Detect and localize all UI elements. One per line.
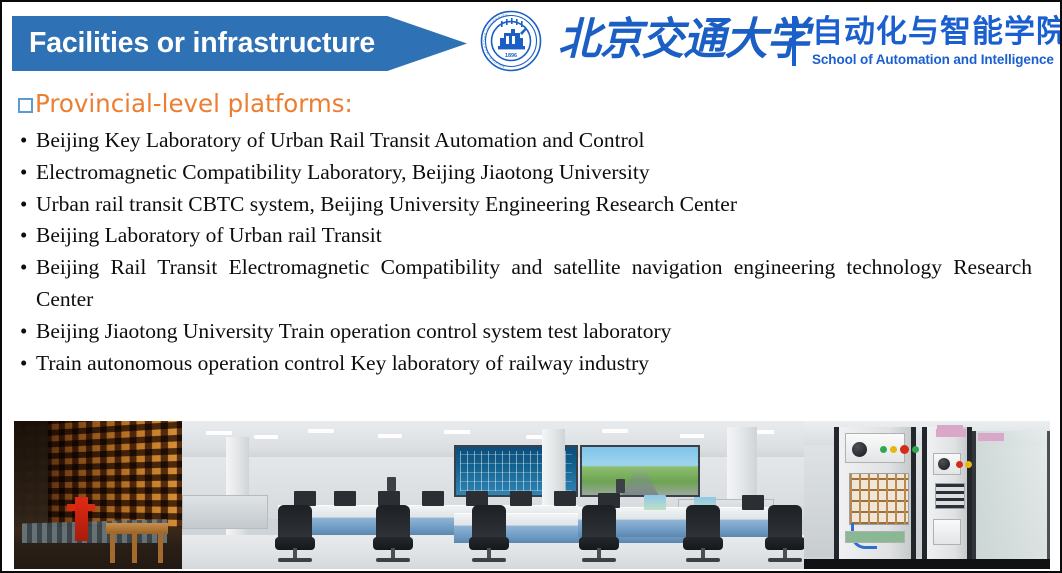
control-panel <box>933 453 961 475</box>
bullet-marker-icon: • <box>20 125 36 157</box>
ceiling-light <box>602 429 628 433</box>
photo-strip <box>14 421 1050 569</box>
table-leg <box>158 533 163 563</box>
chair-base <box>686 558 720 562</box>
list-item: • Beijing Rail Transit Electromagnetic C… <box>20 252 1032 316</box>
rotary-switch-icon <box>938 458 950 470</box>
office-chair <box>372 505 414 567</box>
table-leg <box>132 533 137 563</box>
lower-panel <box>933 519 961 545</box>
wall-display-simulation <box>580 445 700 497</box>
list-item: • Beijing Jiaotong University Train oper… <box>20 316 1032 348</box>
list-item-label: Beijing Rail Transit Electromagnetic Com… <box>36 252 1032 316</box>
list-item-label: Beijing Jiaotong University Train operat… <box>36 316 1032 348</box>
square-bullet-icon <box>18 98 33 113</box>
chair-back <box>472 505 506 541</box>
school-name-english: School of Automation and Intelligence <box>812 51 1060 69</box>
floor-shadow-band <box>804 559 1050 569</box>
platform-bullet-list: • Beijing Key Laboratory of Urban Rail T… <box>20 125 1032 379</box>
school-identity-block: 自动化与智能学院 School of Automation and Intell… <box>812 14 1060 69</box>
slide-header: Facilities or infrastructure <box>2 2 1060 86</box>
bullet-marker-icon: • <box>20 157 36 189</box>
office-chair <box>682 505 724 567</box>
antenna-mast <box>75 497 88 541</box>
wall-control-panel <box>387 477 396 491</box>
indicator-led-green <box>880 446 887 453</box>
chair-base <box>376 558 410 562</box>
bullet-marker-icon: • <box>20 189 36 221</box>
list-item-label: Electromagnetic Compatibility Laboratory… <box>36 157 1032 189</box>
university-seal-icon: 1896 BEIJING JIAOTONG UNIVERSITY <box>480 10 542 72</box>
school-name-chinese: 自动化与智能学院 <box>812 14 1060 50</box>
monitor <box>554 491 576 506</box>
wooden-test-table <box>106 523 168 563</box>
monitor <box>510 491 532 506</box>
ceiling-light <box>206 431 232 435</box>
chair-back <box>582 505 616 541</box>
monitor <box>294 491 316 506</box>
office-chair <box>578 505 620 567</box>
emc-anechoic-chamber-photo <box>14 421 182 569</box>
section-heading: Provincial-level platforms: <box>18 89 353 119</box>
lower-panel <box>845 531 905 543</box>
list-item-label: Train autonomous operation control Key l… <box>36 348 1032 380</box>
indicator-led-green <box>912 446 919 453</box>
chair-base <box>472 558 506 562</box>
wall-control-panel <box>616 479 625 493</box>
list-item: • Electromagnetic Compatibility Laborato… <box>20 157 1032 189</box>
list-item: • Urban rail transit CBTC system, Beijin… <box>20 189 1032 221</box>
indicator-led-red <box>956 461 963 468</box>
bullet-marker-icon: • <box>20 348 36 380</box>
ceiling-light <box>680 434 704 438</box>
ceiling-light <box>254 435 278 439</box>
office-chair <box>468 505 510 567</box>
ceiling-light <box>308 429 334 433</box>
chair-back <box>376 505 410 541</box>
structural-pillar <box>226 437 249 547</box>
emergency-stop-button[interactable] <box>900 445 909 454</box>
list-item: • Train autonomous operation control Key… <box>20 348 1032 380</box>
indicator-led-amber <box>890 446 897 453</box>
chair-back <box>686 505 720 541</box>
equipment-rack-photo <box>804 421 1050 569</box>
page-title: Facilities or infrastructure <box>12 27 375 60</box>
railway-track-graphic <box>621 467 658 495</box>
control-center-lab-photo <box>182 421 804 569</box>
list-item-label: Urban rail transit CBTC system, Beijing … <box>36 189 1032 221</box>
list-item-label: Beijing Key Laboratory of Urban Rail Tra… <box>36 125 1032 157</box>
table-leg <box>110 533 115 563</box>
monitor <box>742 495 764 510</box>
chair-back <box>768 505 802 541</box>
control-panel <box>845 433 905 463</box>
svg-text:1896: 1896 <box>505 53 517 59</box>
office-chair <box>274 505 316 567</box>
bullet-marker-icon: • <box>20 220 36 252</box>
monitor <box>378 491 400 506</box>
chair-base <box>278 558 312 562</box>
equipment-cabinet <box>834 427 916 563</box>
cabinet-label-tag <box>978 433 1004 441</box>
list-item-label: Beijing Laboratory of Urban rail Transit <box>36 220 1032 252</box>
ceiling-light <box>378 434 402 438</box>
equipment-cabinet <box>922 427 972 563</box>
header-divider <box>792 16 796 66</box>
title-banner-arrow: Facilities or infrastructure <box>12 16 467 71</box>
monitor <box>644 495 666 510</box>
relay-wiring-field <box>849 473 909 525</box>
monitor <box>334 491 356 506</box>
card-slot-rack <box>935 483 965 509</box>
section-heading-label: Provincial-level platforms: <box>35 89 353 119</box>
indicator-led-amber <box>965 461 972 468</box>
cabinet-label-tag <box>936 429 966 437</box>
bullet-marker-icon: • <box>20 316 36 348</box>
monitor <box>466 491 488 506</box>
slide: Facilities or infrastructure <box>0 0 1062 573</box>
cubicle-partition <box>182 495 268 529</box>
list-item: • Beijing Key Laboratory of Urban Rail T… <box>20 125 1032 157</box>
bullet-marker-icon: • <box>20 252 36 284</box>
chair-back <box>278 505 312 541</box>
chair-base <box>582 558 616 562</box>
rotary-switch-icon <box>852 442 867 457</box>
glass-partition <box>972 431 1050 563</box>
university-name-chinese: 北京交通大学 <box>558 9 776 71</box>
ceiling-light <box>444 430 470 434</box>
monitor <box>422 491 444 506</box>
office-chair <box>764 505 804 567</box>
list-item: • Beijing Laboratory of Urban rail Trans… <box>20 220 1032 252</box>
chair-base <box>768 558 802 562</box>
